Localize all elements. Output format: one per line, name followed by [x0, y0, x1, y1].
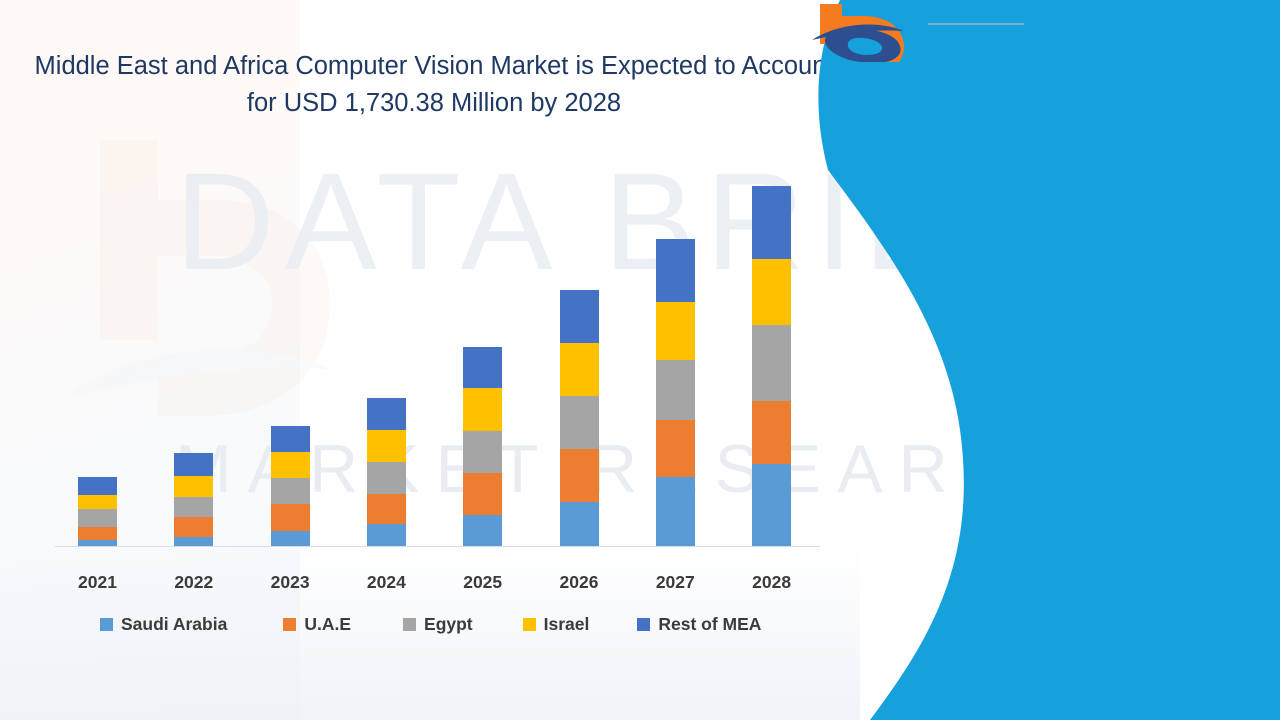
bar-2026	[560, 290, 599, 546]
bar-segment-egypt-2024	[367, 462, 406, 494]
bar-segment-rest-of-mea-2022	[174, 453, 213, 476]
bar-segment-israel-2026	[560, 343, 599, 396]
bar-segment-rest-of-mea-2027	[656, 239, 695, 302]
bar-segment-saudi-arabia-2028	[752, 464, 791, 546]
legend-label: Israel	[544, 614, 590, 635]
legend-swatch-icon	[100, 618, 113, 631]
bar-segment-u-a-e-2026	[560, 449, 599, 502]
bar-segment-u-a-e-2022	[174, 517, 213, 537]
bar-segment-israel-2025	[463, 388, 502, 431]
x-tick-2024: 2024	[350, 572, 422, 593]
bar-segment-egypt-2028	[752, 325, 791, 400]
bar-segment-egypt-2025	[463, 431, 502, 473]
bar-segment-u-a-e-2025	[463, 473, 502, 515]
bar-2027	[656, 239, 695, 546]
bar-segment-rest-of-mea-2021	[78, 477, 117, 495]
bar-segment-egypt-2021	[78, 509, 117, 527]
legend-label: Rest of MEA	[658, 614, 761, 635]
legend-swatch-icon	[403, 618, 416, 631]
legend-item-israel: Israel	[523, 614, 590, 635]
bar-segment-israel-2023	[271, 452, 310, 478]
x-tick-2028: 2028	[736, 572, 808, 593]
bar-segment-u-a-e-2021	[78, 527, 117, 540]
x-tick-2027: 2027	[639, 572, 711, 593]
infographic-canvas: DATA BRIDGE MARKET RESEARCH Middle East …	[0, 0, 1280, 720]
chart-plot-area: 20212022202320242025202620272028	[0, 0, 860, 720]
bar-segment-saudi-arabia-2024	[367, 524, 406, 546]
bar-segment-saudi-arabia-2022	[174, 537, 213, 546]
legend-item-saudi-arabia: Saudi Arabia	[100, 614, 227, 635]
legend-swatch-icon	[283, 618, 296, 631]
bar-2025	[463, 347, 502, 546]
bar-segment-u-a-e-2027	[656, 420, 695, 477]
bar-2023	[271, 426, 310, 546]
bar-segment-israel-2021	[78, 495, 117, 509]
bar-segment-saudi-arabia-2025	[463, 515, 502, 546]
bar-segment-egypt-2022	[174, 497, 213, 517]
bar-segment-israel-2028	[752, 259, 791, 325]
bar-segment-rest-of-mea-2023	[271, 426, 310, 452]
right-info-panel: Middle East and Africa Computer Vision M…	[810, 0, 1280, 720]
bar-segment-saudi-arabia-2027	[656, 477, 695, 546]
bar-segment-egypt-2027	[656, 360, 695, 419]
bar-segment-saudi-arabia-2023	[271, 531, 310, 546]
legend-label: Egypt	[424, 614, 473, 635]
bar-segment-israel-2022	[174, 476, 213, 497]
x-tick-2026: 2026	[543, 572, 615, 593]
bar-segment-egypt-2026	[560, 396, 599, 448]
x-tick-2022: 2022	[158, 572, 230, 593]
legend-label: U.A.E	[304, 614, 351, 635]
bar-2022	[174, 453, 213, 546]
bar-segment-israel-2027	[656, 302, 695, 360]
legend-swatch-icon	[523, 618, 536, 631]
bar-segment-egypt-2023	[271, 478, 310, 504]
bar-segment-rest-of-mea-2028	[752, 186, 791, 259]
bar-segment-rest-of-mea-2026	[560, 290, 599, 343]
bar-segment-israel-2024	[367, 430, 406, 462]
legend-item-egypt: Egypt	[403, 614, 473, 635]
chart-legend: Saudi ArabiaU.A.EEgyptIsraelRest of MEA	[100, 614, 800, 635]
legend-item-rest-of-mea: Rest of MEA	[637, 614, 761, 635]
data-bridge-logo-icon	[810, 0, 1025, 62]
bar-2028	[752, 186, 791, 546]
legend-swatch-icon	[637, 618, 650, 631]
bar-segment-saudi-arabia-2021	[78, 540, 117, 546]
x-axis-line	[55, 546, 820, 547]
panel-shape	[810, 0, 1280, 720]
bar-segment-u-a-e-2023	[271, 504, 310, 531]
bar-2024	[367, 398, 406, 546]
bar-segment-u-a-e-2028	[752, 401, 791, 464]
legend-item-u-a-e: U.A.E	[283, 614, 351, 635]
bar-segment-rest-of-mea-2025	[463, 347, 502, 387]
bar-segment-rest-of-mea-2024	[367, 398, 406, 430]
x-tick-2025: 2025	[447, 572, 519, 593]
bar-2021	[78, 477, 117, 546]
x-tick-2021: 2021	[62, 572, 134, 593]
bar-segment-u-a-e-2024	[367, 494, 406, 524]
bar-segment-saudi-arabia-2026	[560, 502, 599, 546]
x-tick-2023: 2023	[254, 572, 326, 593]
legend-label: Saudi Arabia	[121, 614, 227, 635]
